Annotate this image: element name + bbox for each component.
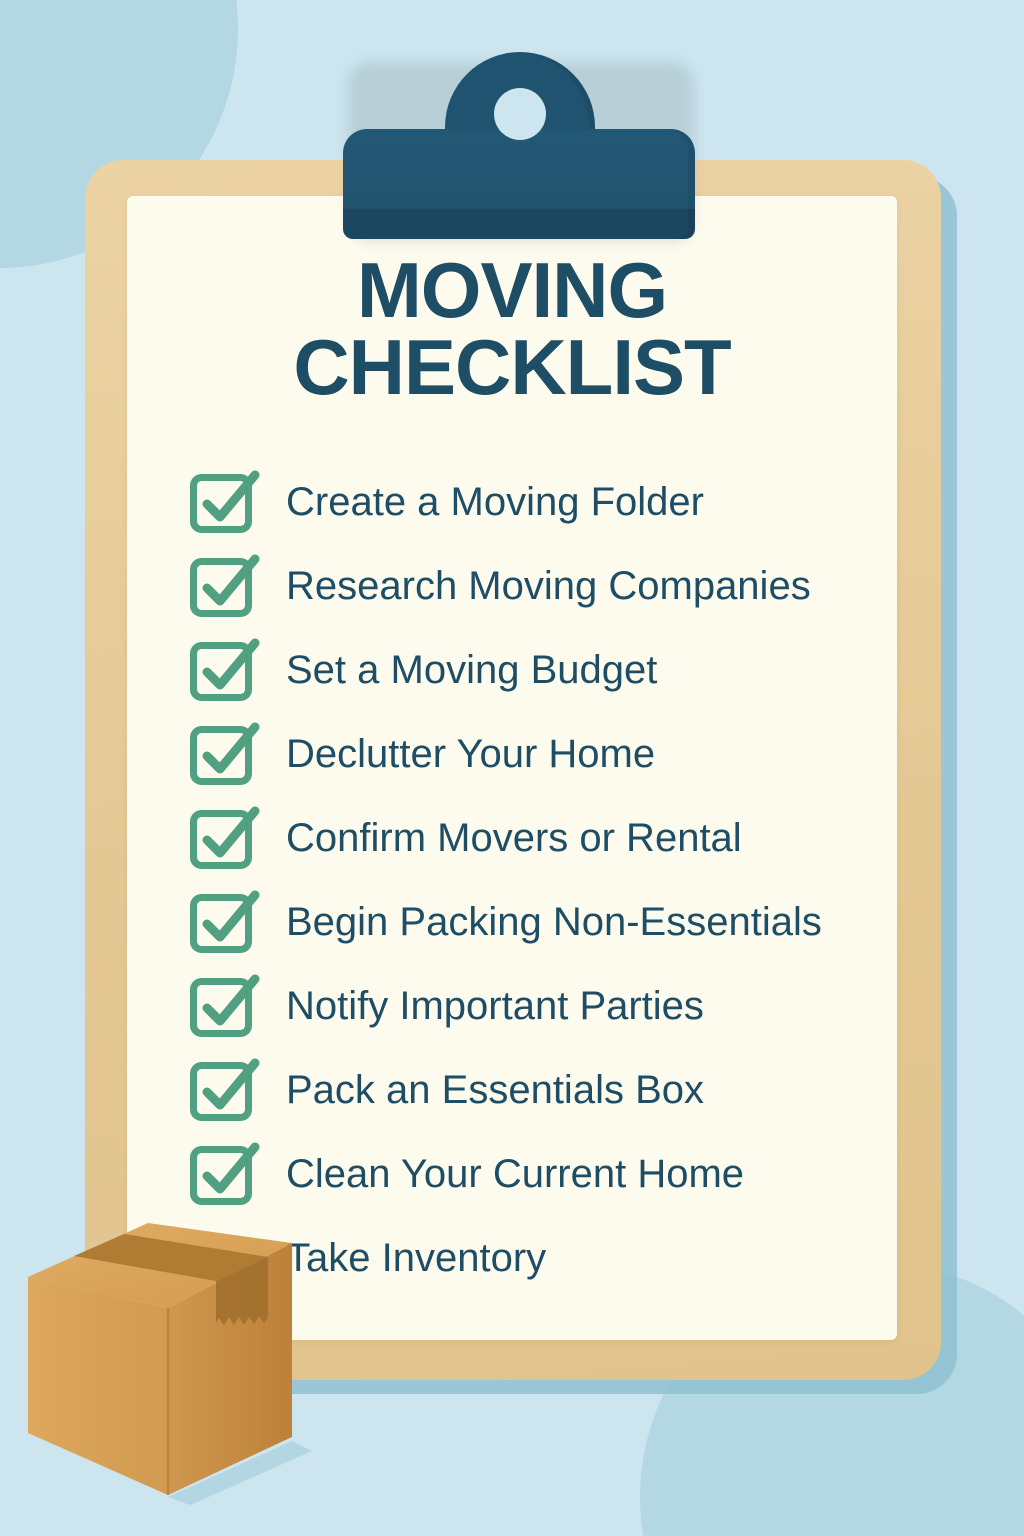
checklist-item[interactable]: Research Moving Companies	[190, 544, 900, 628]
checkbox-checked-icon[interactable]	[190, 975, 264, 1037]
checklist-item-label: Create a Moving Folder	[286, 482, 704, 522]
checkbox-checked-icon[interactable]	[190, 1059, 264, 1121]
moving-checklist-poster: MOVING CHECKLIST Create a Moving FolderR…	[0, 0, 1024, 1536]
checkbox-checked-icon[interactable]	[190, 807, 264, 869]
checkbox-checked-icon[interactable]	[190, 555, 264, 617]
checklist-item-label: Pack an Essentials Box	[286, 1070, 704, 1110]
checklist-item[interactable]: Set a Moving Budget	[190, 628, 900, 712]
checklist: Create a Moving FolderResearch Moving Co…	[190, 460, 900, 1300]
cardboard-box-icon	[20, 1205, 330, 1505]
checklist-item-label: Confirm Movers or Rental	[286, 818, 742, 858]
checklist-item-label: Clean Your Current Home	[286, 1154, 744, 1194]
checklist-item-label: Declutter Your Home	[286, 734, 655, 774]
checkbox-checked-icon[interactable]	[190, 639, 264, 701]
checklist-item-label: Research Moving Companies	[286, 566, 811, 606]
checklist-item-label: Begin Packing Non-Essentials	[286, 902, 822, 942]
page-title: MOVING CHECKLIST	[127, 252, 897, 406]
checklist-item[interactable]: Pack an Essentials Box	[190, 1048, 900, 1132]
checkbox-checked-icon[interactable]	[190, 891, 264, 953]
page-title-line-1: MOVING	[127, 252, 897, 329]
checklist-item[interactable]: Begin Packing Non-Essentials	[190, 880, 900, 964]
checklist-item[interactable]: Declutter Your Home	[190, 712, 900, 796]
checklist-item[interactable]: Clean Your Current Home	[190, 1132, 900, 1216]
clipboard-clip-hole-icon	[494, 88, 546, 140]
checklist-item-label: Notify Important Parties	[286, 986, 704, 1026]
clipboard-clip-icon	[343, 129, 695, 239]
checklist-item[interactable]: Confirm Movers or Rental	[190, 796, 900, 880]
checkbox-checked-icon[interactable]	[190, 723, 264, 785]
page-title-line-2: CHECKLIST	[127, 329, 897, 406]
checkbox-checked-icon[interactable]	[190, 471, 264, 533]
checklist-item-label: Set a Moving Budget	[286, 650, 657, 690]
checklist-item[interactable]: Notify Important Parties	[190, 964, 900, 1048]
checkbox-checked-icon[interactable]	[190, 1143, 264, 1205]
checklist-item[interactable]: Create a Moving Folder	[190, 460, 900, 544]
